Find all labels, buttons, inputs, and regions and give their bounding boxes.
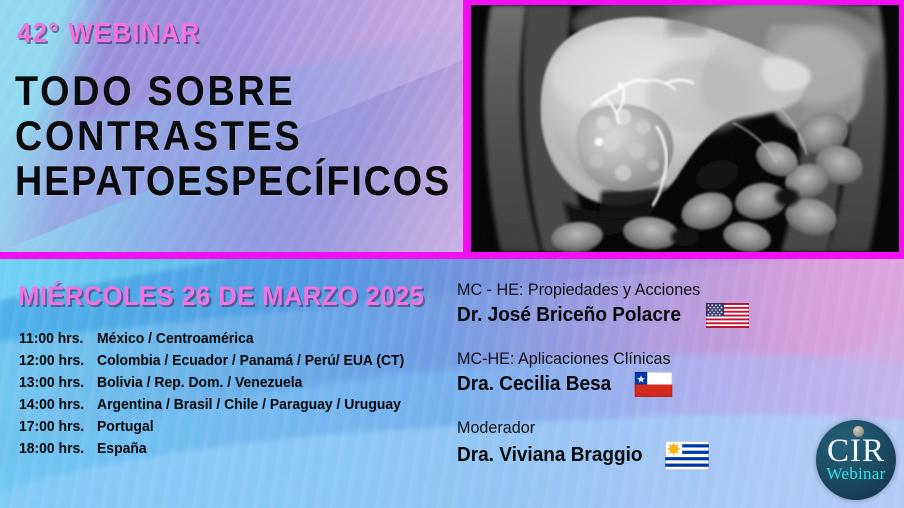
schedule-row: 12:00 hrs. Colombia / Ecuador / Panamá /… (19, 352, 427, 374)
schedule-regions: Bolivia / Rep. Dom. / Venezuela (97, 374, 302, 391)
speakers-list: MC - HE: Propiedades y Acciones Dr. José… (457, 280, 749, 491)
magenta-horizontal-divider (0, 252, 904, 259)
schedule-time: 18:00 hrs. (19, 440, 92, 457)
chile-flag-icon (632, 372, 675, 397)
schedule-time: 12:00 hrs. (19, 352, 92, 369)
speaker-name: Dra. Viviana Braggio (457, 444, 643, 467)
speaker-entry: MC - HE: Propiedades y Acciones Dr. José… (457, 280, 749, 328)
poster-title: TODO SOBRE CONTRASTES HEPATOESPECÍFICOS (15, 68, 463, 203)
speaker-entry: Moderador Dra. Viviana Braggio (457, 418, 749, 470)
poster-header-section: 42° WEBINAR TODO SOBRE CONTRASTES HEPATO… (0, 0, 904, 252)
webinar-poster: 42° WEBINAR TODO SOBRE CONTRASTES HEPATO… (0, 0, 904, 508)
schedule-regions: Argentina / Brasil / Chile / Paraguay / … (97, 396, 401, 413)
schedule-time: 14:00 hrs. (19, 396, 92, 413)
title-line-2: CONTRASTES (15, 113, 420, 158)
speaker-topic: MC - HE: Propiedades y Acciones (457, 280, 734, 300)
webinar-number-kicker: 42° WEBINAR (17, 17, 200, 49)
us-flag-icon (706, 303, 749, 328)
cir-webinar-logo[interactable]: CIR Webinar (816, 420, 896, 500)
magenta-right-border (899, 0, 904, 252)
speaker-name-row: Dra. Cecilia Besa (457, 372, 749, 397)
schedule-row: 11:00 hrs. México / Centroamérica (19, 330, 427, 352)
schedule-time: 13:00 hrs. (19, 374, 92, 391)
schedule-regions: España (97, 440, 147, 457)
schedule-row: 13:00 hrs. Bolivia / Rep. Dom. / Venezue… (19, 374, 427, 396)
logo-initials: CIR (816, 434, 896, 468)
event-date: MIÉRCOLES 26 DE MARZO 2025 (18, 281, 424, 312)
speaker-name: Dra. Cecilia Besa (457, 373, 611, 396)
moderator-label: Moderador (457, 418, 734, 438)
schedule-regions: Colombia / Ecuador / Panamá / Perú/ EUA … (97, 352, 404, 369)
speaker-name-row: Dra. Viviana Braggio (457, 441, 749, 470)
title-panel: 42° WEBINAR TODO SOBRE CONTRASTES HEPATO… (0, 0, 463, 252)
schedule-time: 11:00 hrs. (19, 330, 92, 347)
speaker-topic: MC-HE: Aplicaciones Clínicas (457, 349, 734, 369)
uruguay-flag-icon (665, 441, 709, 470)
speaker-name: Dr. José Briceño Polacre (457, 304, 681, 327)
magenta-vertical-divider (463, 0, 471, 252)
speaker-name-row: Dr. José Briceño Polacre (457, 303, 749, 328)
logo-subtitle: Webinar (816, 464, 896, 484)
schedule-row: 18:00 hrs. España (19, 440, 427, 462)
title-line-3: HEPATOESPECÍFICOS (15, 158, 420, 203)
poster-details-section: MIÉRCOLES 26 DE MARZO 2025 11:00 hrs. Mé… (0, 259, 904, 508)
speaker-entry: MC-HE: Aplicaciones Clínicas Dra. Cecili… (457, 349, 749, 397)
schedule-regions: México / Centroamérica (97, 330, 254, 347)
title-line-1: TODO SOBRE (15, 68, 420, 113)
schedule-time: 17:00 hrs. (19, 418, 92, 435)
mri-scan-image (471, 5, 899, 252)
schedule-row: 14:00 hrs. Argentina / Brasil / Chile / … (19, 396, 427, 418)
timezone-schedule: 11:00 hrs. México / Centroamérica 12:00 … (19, 330, 427, 462)
schedule-row: 17:00 hrs. Portugal (19, 418, 427, 440)
schedule-regions: Portugal (97, 418, 154, 435)
